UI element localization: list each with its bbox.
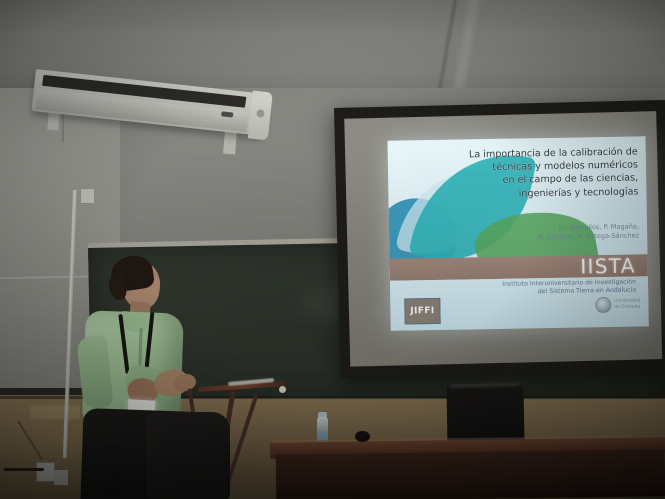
ugr-seal-icon	[595, 297, 611, 313]
water-bottle-label	[317, 431, 328, 440]
projection-screen-surface: La importancia de la calibración de técn…	[344, 111, 662, 367]
slide-organization-subtitle: Instituto Interuniversitario de Investig…	[466, 278, 636, 298]
wall-outlet-secondary	[54, 470, 68, 485]
ac-bracket-right	[223, 132, 237, 155]
slide-authors: R.J. Bergillos, P. Magaña, M. Clavero, M…	[485, 222, 639, 243]
lecture-hall-photo: La importancia de la calibración de técn…	[0, 0, 665, 499]
wainscot-panel	[30, 405, 80, 419]
wall-outlet	[36, 462, 55, 482]
conduit-junction-box	[80, 188, 95, 204]
slide-authors-line-2: M. Clavero, M. Ortega-Sánchez	[485, 231, 639, 243]
slide-title-line-4: ingenierías y tecnologías	[446, 185, 638, 202]
speaker-hair-side	[108, 273, 128, 301]
ugr-logo-line-2: de Granada	[614, 304, 640, 310]
ac-bracket-left	[47, 112, 60, 131]
small-black-object	[355, 431, 370, 442]
tripod-knob[interactable]	[279, 386, 286, 393]
jiffi-logo: JIFFI	[404, 298, 440, 325]
projection-screen-frame: La importancia de la calibración de técn…	[334, 100, 665, 378]
floor-cord	[4, 468, 44, 471]
ugr-logo: Universidad de Granada	[595, 296, 640, 313]
presentation-slide: La importancia de la calibración de técn…	[387, 136, 648, 330]
slide-upper-area: La importancia de la calibración de técn…	[387, 136, 647, 258]
ceiling-beam-highlight	[452, 0, 480, 99]
slide-title: La importancia de la calibración de técn…	[446, 145, 639, 201]
jiffi-logo-label: JIFFI	[410, 306, 435, 316]
slide-organization-name: IISTA	[580, 253, 636, 278]
bag	[146, 412, 230, 499]
ugr-logo-text: Universidad de Granada	[614, 299, 640, 311]
desk-front-panel	[276, 449, 665, 499]
